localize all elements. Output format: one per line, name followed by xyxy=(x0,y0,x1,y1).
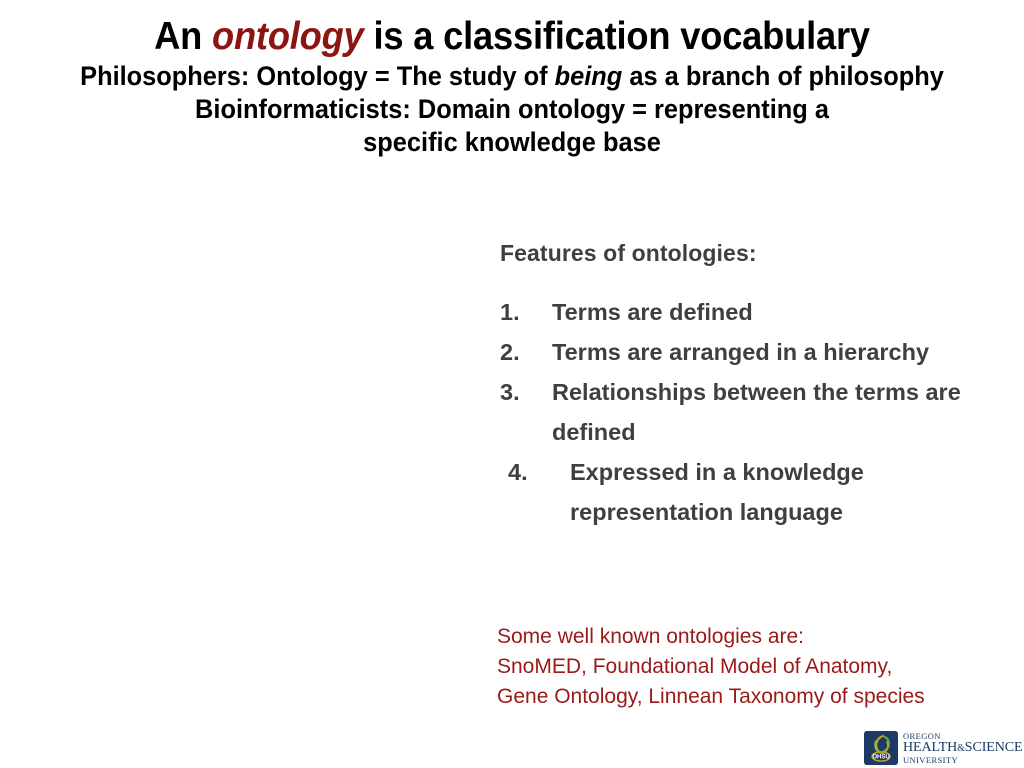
title-emphasis-ontology: ontology xyxy=(212,15,364,58)
known-ontologies-note: Some well known ontologies are: SnoMED, … xyxy=(497,622,925,712)
list-item-label: Relationships between the terms are defi… xyxy=(552,372,970,452)
ohsu-wordmark-line2: HEALTH&SCIENCE xyxy=(903,741,1022,755)
ohsu-wordmark-ampersand: & xyxy=(957,743,965,754)
ohsu-wordmark-science: SCIENCE xyxy=(965,740,1023,755)
ohsu-wordmark-health: HEALTH xyxy=(903,740,957,755)
list-item-number: 1. xyxy=(500,292,552,332)
list-item: 4. Expressed in a knowledge representati… xyxy=(500,452,970,532)
list-item-number: 3. xyxy=(500,372,552,412)
list-item: 1. Terms are defined xyxy=(500,292,970,332)
list-item-number: 2. xyxy=(500,332,552,372)
title-text-after: is a classification vocabulary xyxy=(364,15,870,58)
title-block: An ontology is a classification vocabula… xyxy=(0,14,1024,159)
subtitle-bioinformaticists: Bioinformaticists: Domain ontology = rep… xyxy=(183,93,841,159)
ohsu-wordmark: OREGON HEALTH&SCIENCE UNIVERSITY xyxy=(903,732,1022,765)
list-item: 3. Relationships between the terms are d… xyxy=(500,372,970,452)
subtitle-1-emphasis-being: being xyxy=(555,61,623,91)
page-title: An ontology is a classification vocabula… xyxy=(36,14,988,60)
features-heading: Features of ontologies: xyxy=(500,240,757,267)
list-item: 2. Terms are arranged in a hierarchy xyxy=(500,332,970,372)
list-item-label: Terms are defined xyxy=(552,292,970,332)
svg-text:OHSU: OHSU xyxy=(872,755,889,761)
list-item-label: Terms are arranged in a hierarchy xyxy=(552,332,970,372)
list-item-number: 4. xyxy=(500,452,568,492)
subtitle-1-before: Philosophers: Ontology = The study of xyxy=(80,61,554,91)
features-list: 1. Terms are defined 2. Terms are arrang… xyxy=(500,292,970,532)
ohsu-wordmark-line3: UNIVERSITY xyxy=(903,756,1022,765)
ohsu-logo: OHSU OREGON HEALTH&SCIENCE UNIVERSITY xyxy=(864,729,1024,767)
ohsu-wordmark-line1: OREGON xyxy=(903,732,1022,741)
title-text-before: An xyxy=(154,15,212,58)
subtitle-philosophers: Philosophers: Ontology = The study of be… xyxy=(31,60,994,93)
list-item-label: Expressed in a knowledge representation … xyxy=(568,452,970,532)
ohsu-badge-icon: OHSU xyxy=(864,731,898,765)
slide-canvas: An ontology is a classification vocabula… xyxy=(0,0,1024,768)
subtitle-1-after: as a branch of philosophy xyxy=(622,61,944,91)
